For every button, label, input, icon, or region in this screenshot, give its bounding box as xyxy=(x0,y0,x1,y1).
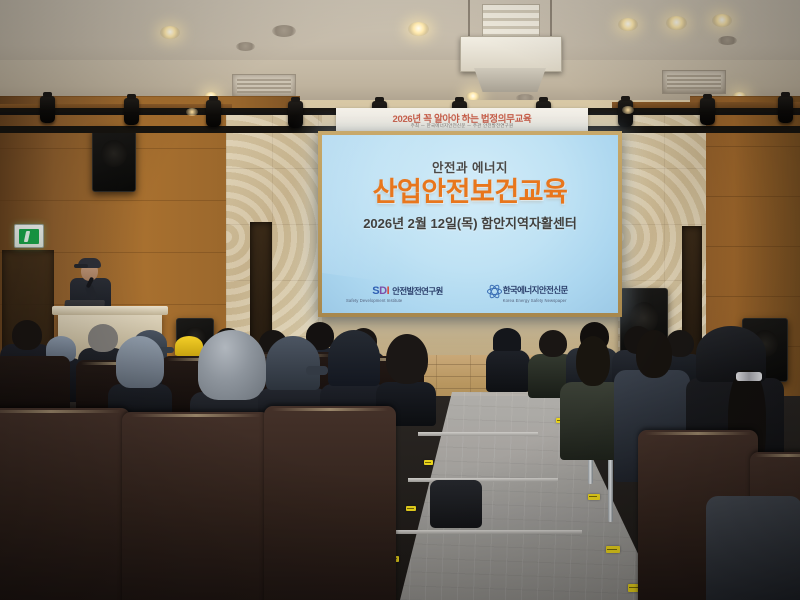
aisle-step-edge xyxy=(408,478,558,482)
spotlight-glow xyxy=(186,108,198,116)
exit-running-man-icon xyxy=(19,229,39,244)
slide-title: 산업안전보건교육 xyxy=(373,178,568,207)
seat-back[interactable] xyxy=(0,356,70,414)
row-marker-tag xyxy=(588,494,600,500)
aisle-step-edge xyxy=(418,432,538,436)
banner-line-2: 주최 ㅡ 한국에너지안전신문 ㅡ 주관 안전발전연구원 xyxy=(336,123,588,129)
downlight xyxy=(408,22,429,36)
seat-back-foreground[interactable] xyxy=(0,408,130,600)
downlight xyxy=(712,14,732,27)
stage-spotlight xyxy=(40,96,55,123)
ceiling-air-vent xyxy=(662,70,726,94)
logo-kesn-name-ko: 한국에너지안전신문 xyxy=(503,286,568,295)
torso xyxy=(486,350,530,392)
downlight-off xyxy=(236,42,255,51)
projector-mount xyxy=(482,4,540,38)
podium-top xyxy=(52,306,168,315)
slide-date-venue: 2026년 2월 12일(목) 함안지역자활센터 xyxy=(363,213,577,232)
spotlight-glow xyxy=(622,106,634,114)
hair-tie xyxy=(736,372,762,381)
cap-hat xyxy=(266,336,320,390)
speaker-left xyxy=(92,128,136,192)
cap-hat xyxy=(493,328,521,351)
presenter-cap xyxy=(78,258,101,268)
downlight-off xyxy=(272,25,296,37)
head xyxy=(386,334,428,384)
aisle-step-edge xyxy=(396,530,582,534)
atom-icon xyxy=(487,284,500,297)
cap-hat xyxy=(328,330,380,386)
torso xyxy=(706,496,800,600)
exit-sign xyxy=(14,224,44,248)
row-marker-tag xyxy=(424,460,433,465)
head xyxy=(636,330,672,378)
logo-sdi-name-en: Safety Development Institute xyxy=(346,298,402,303)
seat-back-foreground[interactable] xyxy=(122,412,270,600)
stage-spotlight xyxy=(206,100,221,127)
sdi-mark-icon: SDI xyxy=(372,285,389,297)
downlight xyxy=(160,26,180,39)
gray-beanie-hat xyxy=(198,330,266,400)
downlight xyxy=(618,18,638,31)
row-marker-tag xyxy=(606,546,620,553)
auditorium-photo: 2026년 꼭 알아야 하는 법정의무교육 주최 ㅡ 한국에너지안전신문 ㅡ 주… xyxy=(0,0,800,600)
floor-bag xyxy=(430,480,482,528)
stage-spotlight xyxy=(288,101,303,128)
audience-member xyxy=(486,328,530,390)
stage-spotlight xyxy=(778,96,793,123)
seat-back-foreground[interactable] xyxy=(264,406,396,600)
stage-spotlight xyxy=(700,98,715,125)
slide-subtitle: 안전과 에너지 xyxy=(432,157,508,176)
logo-kesn-name-en: Korea Energy Safety Newspaper xyxy=(503,298,567,303)
stage-spotlight xyxy=(124,98,139,125)
downlight xyxy=(666,16,687,30)
logo-kesn: 한국에너지안전신문 Korea Energy Safety Newspaper xyxy=(487,284,568,297)
audience-member-front-right xyxy=(706,496,800,600)
row-marker-tag xyxy=(406,506,416,511)
ceiling-air-vent xyxy=(232,74,296,98)
head xyxy=(576,336,610,386)
logo-sdi-name-ko: 안전발전연구원 xyxy=(392,287,443,296)
beanie-hat xyxy=(116,336,164,388)
slide-logo-row: SDI 안전발전연구원 Safety Development Institute… xyxy=(322,284,618,297)
projector-body xyxy=(460,36,562,72)
projection-screen: 안전과 에너지 산업안전보건교육 2026년 2월 12일(목) 함안지역자활센… xyxy=(322,135,618,313)
downlight-off xyxy=(718,36,737,45)
ceiling-projector xyxy=(452,0,568,92)
logo-sdi: SDI 안전발전연구원 Safety Development Institute xyxy=(372,285,442,297)
projection-screen-frame: 안전과 에너지 산업안전보건교육 2026년 2월 12일(목) 함안지역자활센… xyxy=(318,131,622,317)
projector-lens xyxy=(474,68,546,92)
